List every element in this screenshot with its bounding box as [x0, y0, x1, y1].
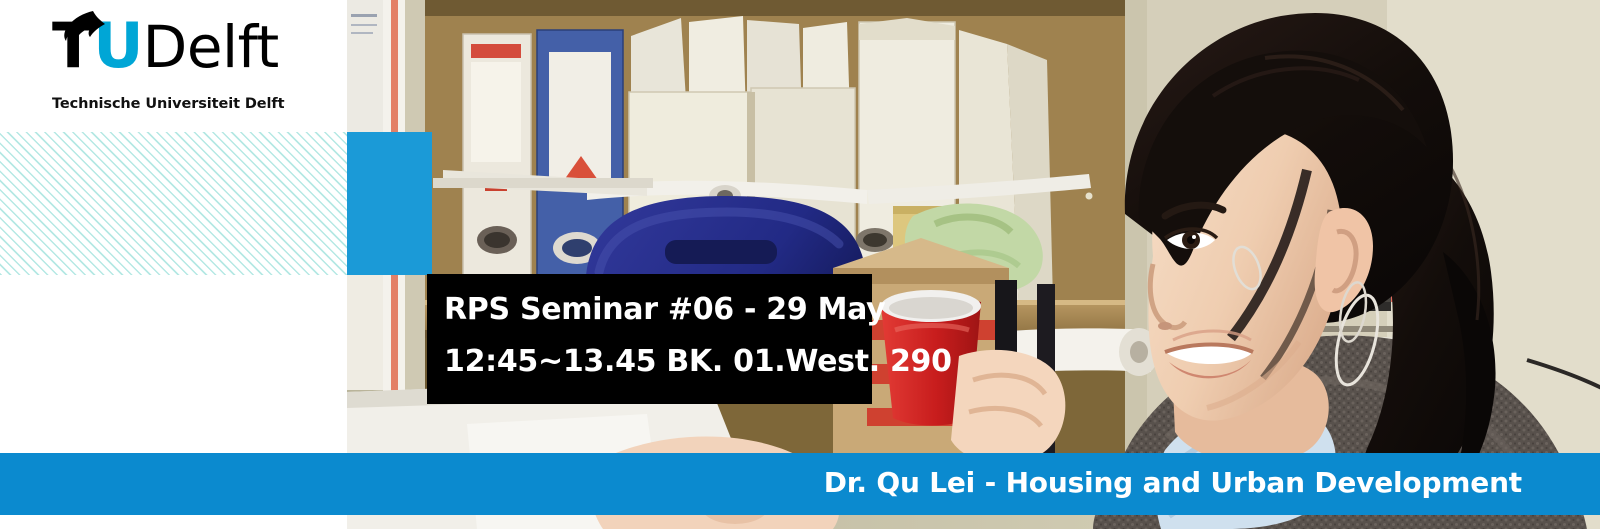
speaker-name-topic: Dr. Qu Lei - Housing and Urban Developme…	[824, 466, 1522, 499]
seminar-caption-box: RPS Seminar #06 - 29 May 12:45~13.45 BK.…	[427, 274, 872, 404]
tu-delft-wordmark: TUDelft	[52, 12, 312, 80]
logo-subtitle: Technische Universiteit Delft	[52, 96, 312, 112]
blue-accent-square	[347, 132, 432, 275]
seminar-photo	[347, 0, 1600, 529]
speaker-bar: Dr. Qu Lei - Housing and Urban Developme…	[0, 453, 1600, 515]
caption-line-title: RPS Seminar #06 - 29 May	[444, 292, 885, 327]
seminar-banner: TUDelft Technische Universiteit Delft RP…	[0, 0, 1600, 529]
logo-word-delft: Delft	[143, 13, 279, 81]
tu-delft-logo: TUDelft Technische Universiteit Delft	[52, 12, 312, 112]
diagonal-hatch-decoration	[0, 132, 347, 275]
flame-icon	[60, 10, 106, 44]
caption-line-time-location: 12:45~13.45 BK. 01.West. 290	[444, 344, 952, 379]
photo-illustration	[347, 0, 1600, 529]
